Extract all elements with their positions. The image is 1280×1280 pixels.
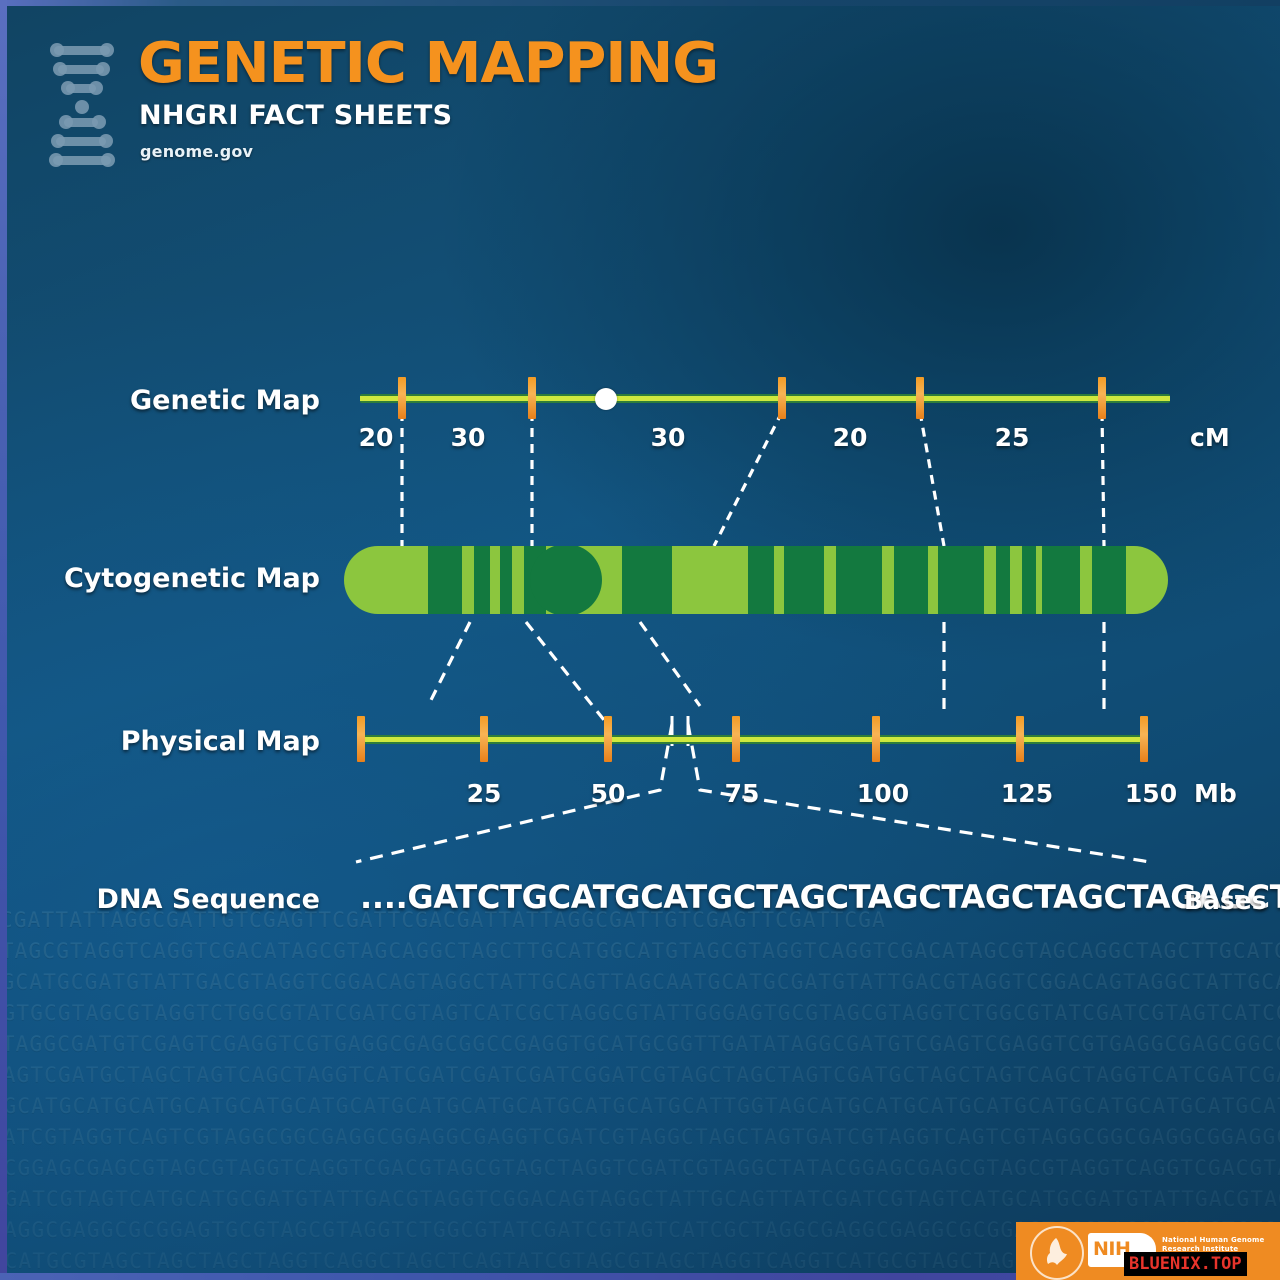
physical-label-125: 125 [992,779,1062,808]
physical-tick-125[interactable] [1016,716,1024,762]
connector-genetic-5 [1102,412,1104,546]
physical-tick-100[interactable] [872,716,880,762]
genetic-map-label: Genetic Map [40,385,320,416]
chromosome-band [622,546,672,614]
chromosome-band [938,546,984,614]
genetic-interval-3: 30 [638,423,698,452]
genetic-tick-3[interactable] [778,377,786,419]
chromosome-band [748,546,774,614]
genetic-interval-2: 30 [438,423,498,452]
physical-tick-25[interactable] [480,716,488,762]
chromosome-band [1092,546,1126,614]
chromosome-band [500,546,512,614]
physical-label-50: 50 [578,779,638,808]
chromosome-band [1022,546,1036,614]
physical-map-label: Physical Map [40,726,320,757]
connector-genetic-4 [920,412,944,546]
genetic-tick-5[interactable] [1098,377,1106,419]
physical-tick-75[interactable] [732,716,740,762]
centromere [530,546,602,614]
infographic-canvas: CGATTATTAGGCGATTGTCGAGTTCGATTCGACGATTATT… [0,0,1280,1280]
connector-physical-1 [428,622,470,706]
chromosome-band [784,546,824,614]
physical-label-75: 75 [712,779,772,808]
chromosome-band [836,546,882,614]
physical-tick-50[interactable] [604,716,612,762]
cytogenetic-map-label: Cytogenetic Map [20,563,320,594]
chromosome-band [996,546,1010,614]
physical-tick-0[interactable] [357,716,365,762]
genetic-tick-2[interactable] [528,377,536,419]
connector-physical-2 [526,622,604,720]
genetic-interval-1: 20 [346,423,406,452]
genetic-interval-4: 20 [820,423,880,452]
chromosome-band [1042,546,1080,614]
connector-lines [0,0,1280,1280]
genetic-interval-5: 25 [982,423,1042,452]
physical-label-100: 100 [848,779,918,808]
chromosome-band [894,546,928,614]
genetic-marker-dot[interactable] [595,388,617,410]
genetic-map-axis [360,394,1170,403]
watermark-badge: BLUENIX.TOP [1124,1252,1247,1276]
watermark-text: BLUENIX.TOP [1129,1254,1242,1274]
nih-eagle-seal-icon [1030,1226,1084,1280]
chromosome-ideogram[interactable] [344,546,1168,614]
connector-genetic-3 [714,412,782,546]
physical-label-150: 150 [1116,779,1186,808]
connector-physical-3 [640,622,700,706]
genetic-unit-label: cM [1190,423,1230,452]
dna-sequence-text: ....GATCTGCATGCATGCTAGCTAGCTAGCTAGCTAGAG… [360,878,1280,916]
dna-sequence-label: DNA Sequence [20,884,320,915]
eagle-glyph [1041,1236,1071,1268]
physical-unit-label: Mb [1194,779,1237,808]
dna-unit-label: Bases [1184,886,1267,915]
chromosome-band [474,546,490,614]
physical-map-axis [360,735,1146,744]
chromosome-band [428,546,462,614]
genetic-tick-1[interactable] [398,377,406,419]
physical-tick-150[interactable] [1140,716,1148,762]
physical-label-25: 25 [454,779,514,808]
genetic-tick-4[interactable] [916,377,924,419]
